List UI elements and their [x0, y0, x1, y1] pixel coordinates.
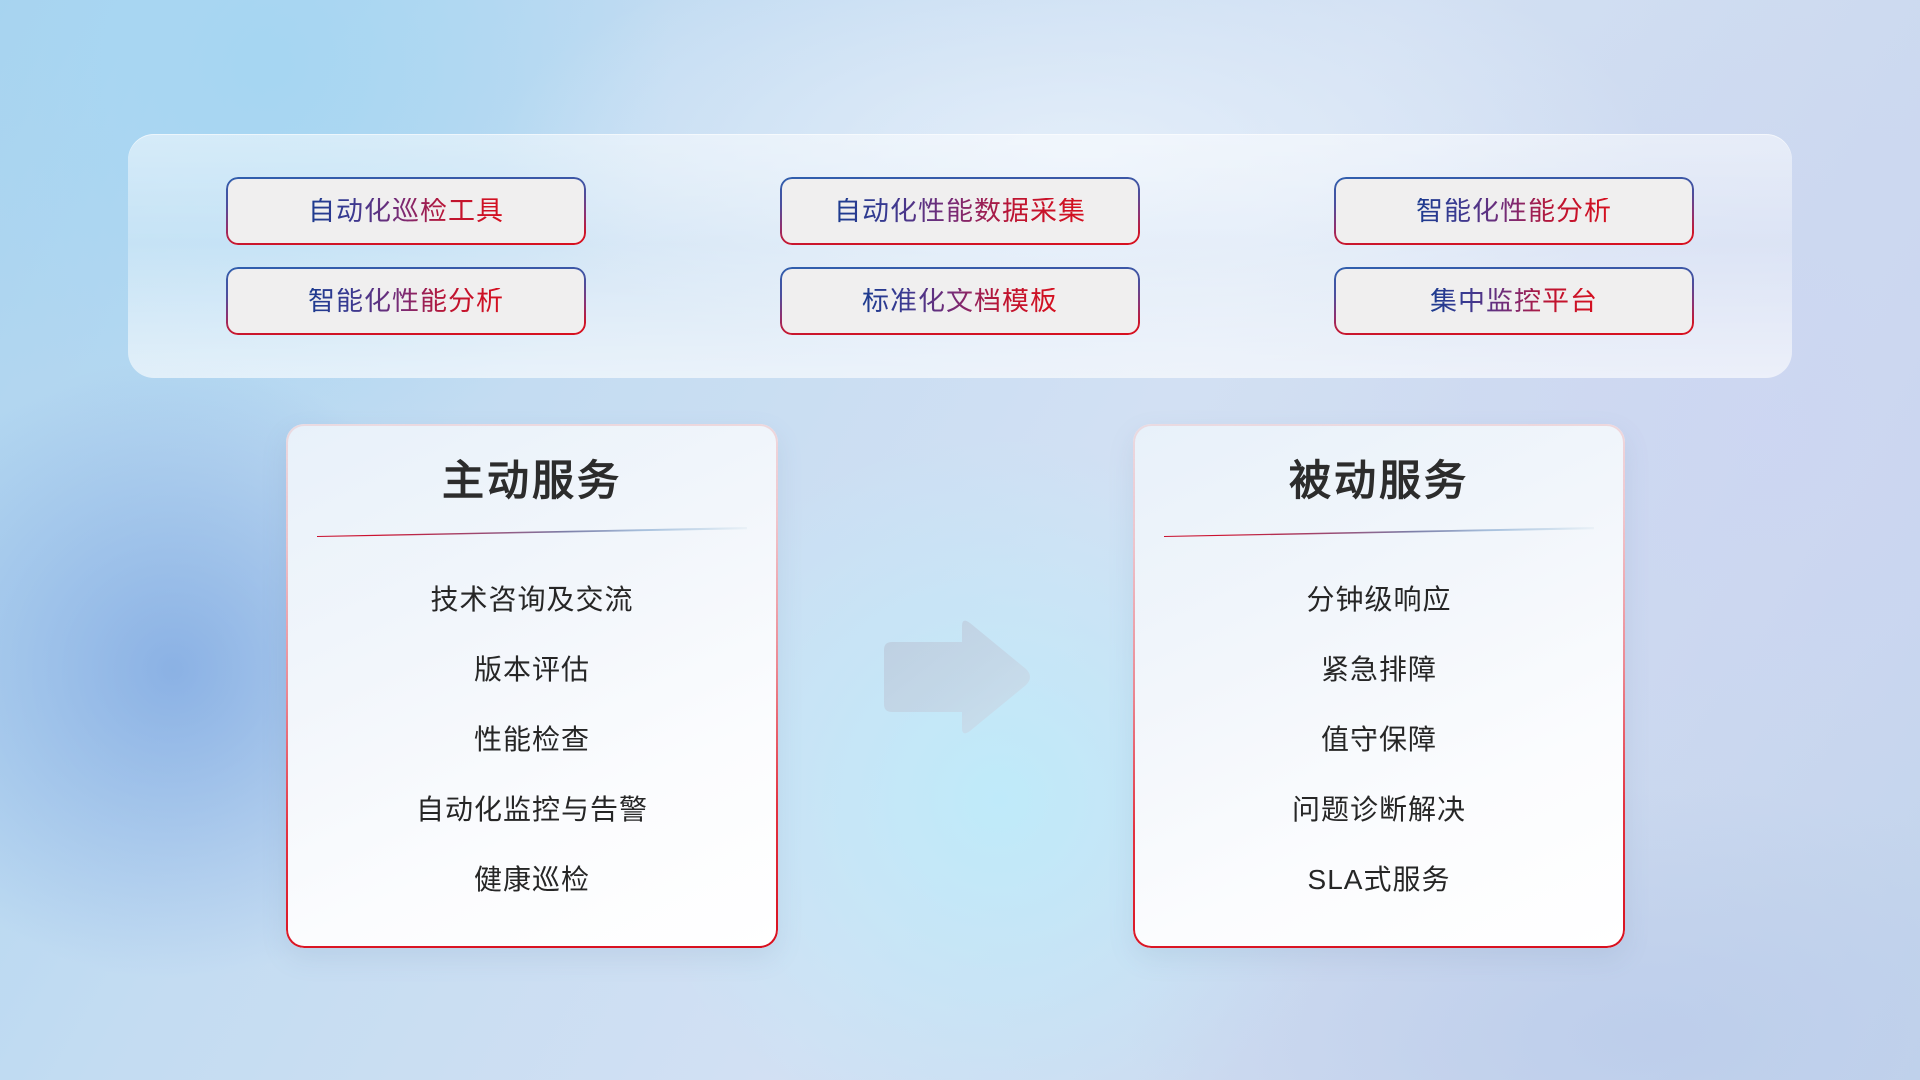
capability-pill-label: 智能化性能分析: [308, 288, 504, 315]
capability-pill-label: 自动化性能数据采集: [834, 198, 1086, 225]
list-item: 分钟级响应: [1306, 565, 1451, 635]
list-item: 值守保障: [1321, 705, 1437, 775]
capability-pill[interactable]: 标准化文档模板: [780, 267, 1140, 335]
capability-pill[interactable]: 自动化巡检工具: [226, 177, 586, 245]
card-divider: [1164, 527, 1594, 537]
list-item: 性能检查: [474, 705, 590, 775]
capability-pill-label: 自动化巡检工具: [308, 198, 504, 225]
capability-pill-label: 集中监控平台: [1430, 288, 1598, 315]
card-content: 主动服务: [286, 424, 778, 948]
capability-pill[interactable]: 智能化性能分析: [1334, 177, 1694, 245]
card-divider: [317, 527, 747, 537]
capability-pill[interactable]: 自动化性能数据采集: [780, 177, 1140, 245]
capability-row-1: 自动化巡检工具 自动化性能数据采集 智能化性能分析: [226, 177, 1694, 245]
capability-pill[interactable]: 集中监控平台: [1334, 267, 1694, 335]
capability-pill-label: 智能化性能分析: [1416, 198, 1612, 225]
list-item: 紧急排障: [1321, 635, 1437, 705]
capability-row-2: 智能化性能分析 标准化文档模板 集中监控平台: [226, 267, 1694, 335]
list-item: 版本评估: [474, 635, 590, 705]
list-item: 问题诊断解决: [1292, 775, 1466, 845]
list-item: 自动化监控与告警: [416, 775, 648, 845]
card-content: 被动服务: [1133, 424, 1625, 948]
list-item: 健康巡检: [474, 845, 590, 915]
capability-pill-label: 标准化文档模板: [862, 288, 1058, 315]
card-title: 被动服务: [1289, 458, 1469, 504]
card-item-list: 技术咨询及交流 版本评估 性能检查 自动化监控与告警 健康巡检: [286, 565, 778, 915]
arrow-right-icon: [874, 617, 1034, 737]
capability-pill[interactable]: 智能化性能分析: [226, 267, 586, 335]
list-item: 技术咨询及交流: [430, 565, 633, 635]
slide-canvas: 自动化巡检工具 自动化性能数据采集 智能化性能分析 智能化性能分析 标准化文档模…: [0, 0, 1920, 1080]
list-item: SLA式服务: [1308, 845, 1451, 915]
card-title: 主动服务: [442, 458, 622, 504]
capability-banner: 自动化巡检工具 自动化性能数据采集 智能化性能分析 智能化性能分析 标准化文档模…: [128, 134, 1792, 378]
service-card-proactive: 主动服务: [286, 424, 778, 948]
service-card-reactive: 被动服务: [1133, 424, 1625, 948]
card-item-list: 分钟级响应 紧急排障 值守保障 问题诊断解决 SLA式服务: [1133, 565, 1625, 915]
